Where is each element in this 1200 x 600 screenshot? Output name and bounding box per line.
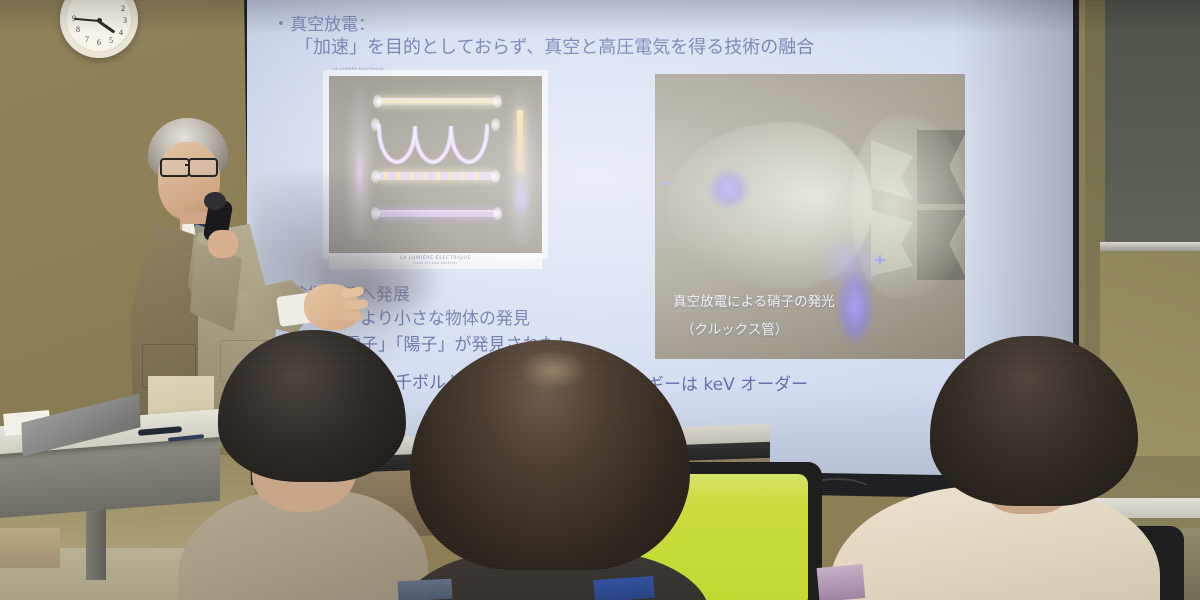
discharge-tube-right-filament — [517, 110, 523, 172]
discharge-tube-right-glow — [511, 174, 531, 220]
tube-cap-1a — [373, 95, 382, 108]
presenter-glasses-left-lens — [160, 158, 190, 177]
cathode-glow — [707, 169, 751, 209]
right-figure: 真空放電による硝子の発光 （クルックス管） — [655, 74, 965, 359]
notebook-left — [398, 579, 453, 600]
presenter-hand-mic — [208, 230, 238, 258]
discharge-tube-row-2 — [375, 120, 499, 166]
electrode-marker — [663, 182, 670, 185]
cardboard-box — [0, 528, 60, 568]
audience-left-hair — [218, 330, 406, 482]
slide-bullet-sub: 「加速」を目的としておらず、真空と高圧電気を得る技術の融合 — [295, 33, 814, 59]
presenter-glasses-right-lens — [188, 158, 218, 177]
tube-cap-1b — [493, 95, 502, 108]
microphone-head — [204, 192, 226, 210]
tube-cap-3b — [491, 170, 500, 183]
audience-member-center — [410, 340, 690, 600]
notebook-center — [593, 576, 654, 600]
chalkboard-rail — [1100, 242, 1200, 251]
discharge-tube-row-1 — [377, 98, 497, 105]
chalkboard — [1105, 0, 1200, 245]
tube-cap-4b — [493, 207, 502, 220]
lectern-leg — [86, 500, 106, 580]
right-figure-caption-line1: 真空放電による硝子の発光 — [673, 290, 835, 310]
tube-stem-glow — [837, 270, 873, 344]
audience-member-right — [884, 336, 1184, 600]
tube-cap-2b — [491, 118, 500, 131]
lecture-room-photo: 12 1 2 3 4 5 6 7 8 9 とのちがい • 真空放電： 「加速」を… — [0, 0, 1200, 600]
presenter-finger-3 — [342, 311, 364, 322]
clock-number-5: 5 — [109, 36, 113, 45]
crosshair-pointer-icon[interactable] — [873, 253, 887, 267]
clock-number-6: 6 — [97, 38, 101, 47]
tube-cap-2a — [371, 118, 380, 131]
audience-right-hair — [930, 336, 1138, 506]
presenter-glasses-bridge — [185, 164, 190, 166]
notebook-right — [817, 564, 866, 600]
audience-member-left — [196, 330, 426, 600]
left-figure-topnote: LA LUMIÈRE ÉLECTRIQUE — [333, 67, 384, 71]
ceiling-shading — [0, 0, 1200, 34]
presenter-finger-2 — [344, 299, 369, 310]
audience-center-hair-crown — [518, 350, 588, 390]
clock-number-7: 7 — [85, 35, 89, 44]
right-figure-caption-line2: （クルックス管） — [681, 318, 788, 338]
